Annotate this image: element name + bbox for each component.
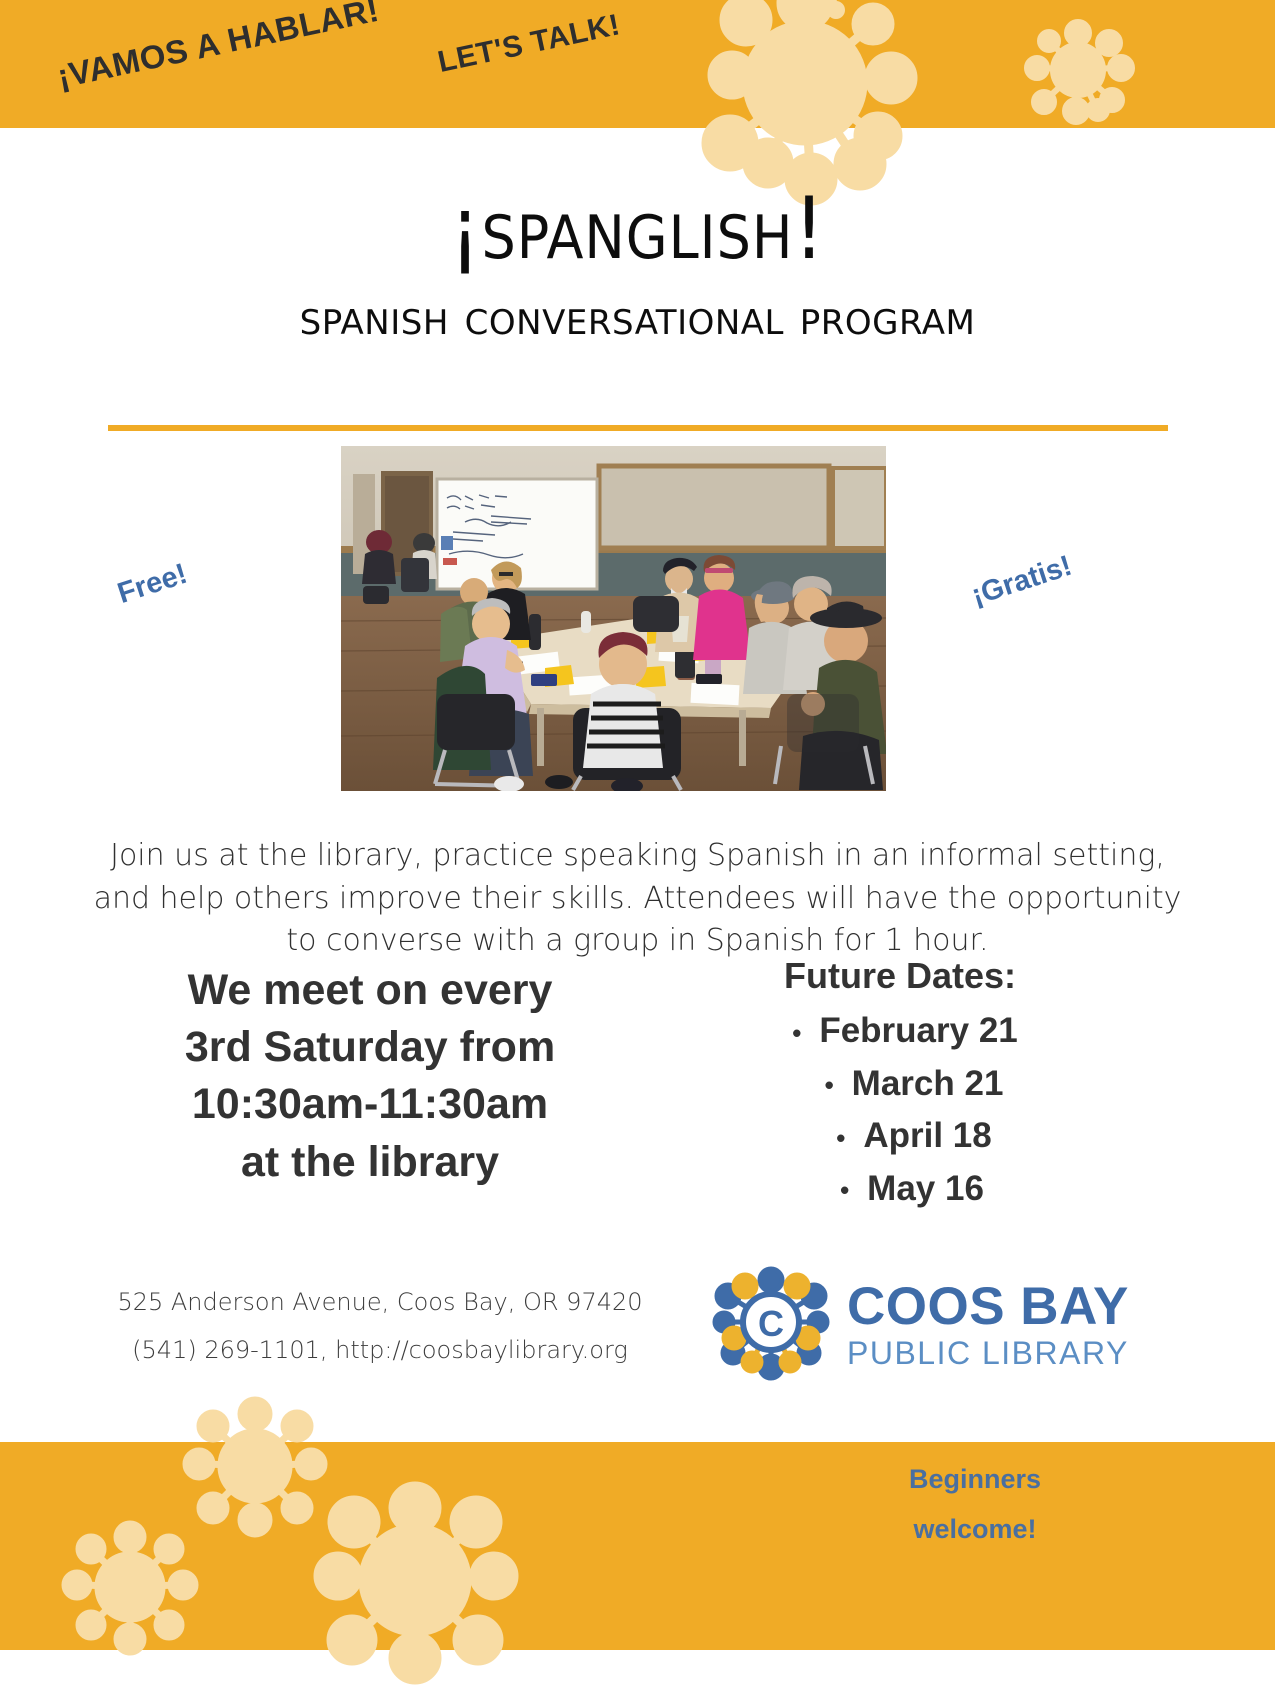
schedule-line-1: We meet on every [90,962,650,1019]
logo-wordmark: COOS BAY PUBLIC LIBRARY [847,1280,1129,1369]
logo-letter: C [758,1303,784,1344]
beginners-welcome-note: Beginners welcome! [830,1455,1120,1555]
page-subtitle: Spanish conversational program [0,294,1275,342]
starburst-decoration-tiny-icon [780,0,860,31]
free-badge-english: Free! [114,558,192,611]
starburst-decoration-small-icon [1018,8,1138,138]
free-badge-spanish: ¡Gratis! [968,550,1076,613]
future-dates-list: •February 21 •March 21 •April 18 •May 16 [690,1005,1140,1215]
library-logo: C COOS BAY PUBLIC LIBRARY [705,1252,1115,1397]
program-description: Join us at the library, practice speakin… [80,835,1195,963]
list-item: •April 18 [690,1110,1140,1163]
page-title: ¡Spanglish! [0,186,1275,272]
logo-name: COOS BAY [847,1280,1129,1333]
list-item: •March 21 [690,1058,1140,1111]
coos-bay-starburst-logo-icon: C [705,1256,837,1393]
gold-divider [108,425,1168,431]
bullet-icon: • [840,1175,849,1205]
starburst-decoration-medium-icon [55,1505,205,1670]
title-block: ¡Spanglish! Spanish conversational progr… [0,186,1275,342]
schedule-line-4: at the library [90,1134,650,1191]
date-label: February 21 [819,1011,1017,1050]
schedule-line-2: 3rd Saturday from [90,1019,650,1076]
program-photo [341,446,886,791]
beginners-line-1: Beginners [830,1455,1120,1505]
future-dates-section: Future Dates: •February 21 •March 21 •Ap… [690,955,1140,1215]
beginners-line-2: welcome! [830,1505,1120,1555]
bullet-icon: • [825,1070,834,1100]
list-item: •February 21 [690,1005,1140,1058]
date-label: May 16 [867,1169,984,1208]
library-address: 525 Anderson Avenue, Coos Bay, OR 97420 [60,1278,700,1326]
meeting-schedule: We meet on every 3rd Saturday from 10:30… [90,962,650,1191]
starburst-decoration-large-icon [300,1460,530,1705]
date-label: March 21 [852,1064,1004,1103]
logo-subtitle: PUBLIC LIBRARY [847,1337,1129,1369]
contact-info: 525 Anderson Avenue, Coos Bay, OR 97420 … [60,1278,700,1374]
future-dates-heading: Future Dates: [690,955,1140,997]
date-label: April 18 [863,1116,991,1155]
library-phone-website[interactable]: (541) 269-1101, http://coosbaylibrary.or… [60,1326,700,1374]
bullet-icon: • [792,1018,801,1048]
bullet-icon: • [836,1123,845,1153]
schedule-line-3: 10:30am-11:30am [90,1076,650,1133]
list-item: •May 16 [690,1163,1140,1216]
